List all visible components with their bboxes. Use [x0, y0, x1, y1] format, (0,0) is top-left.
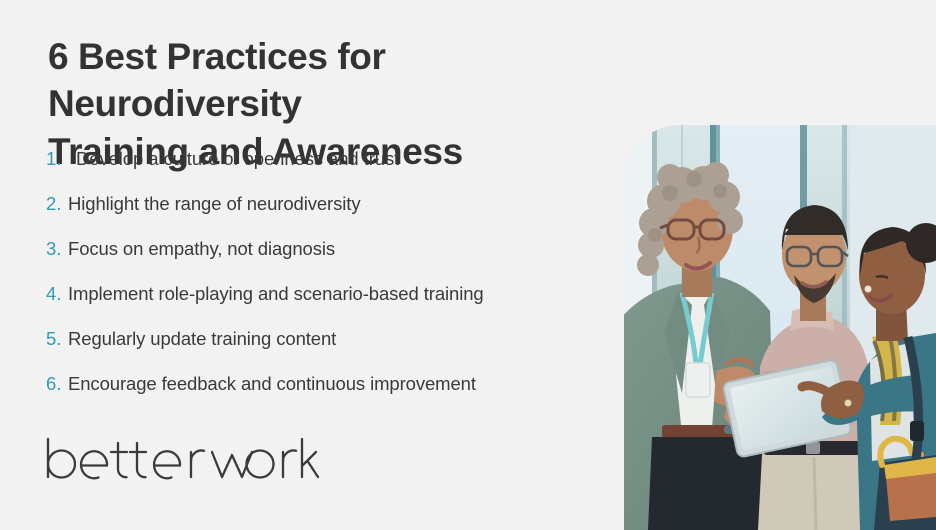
list-item: 6. Encourage feedback and continuous imp… — [46, 373, 606, 418]
list-item-label: Focus on empathy, not diagnosis — [68, 238, 606, 260]
betterworks-logo — [44, 434, 324, 492]
team-photo — [624, 125, 936, 530]
list-item-label: Highlight the range of neurodiversity — [68, 193, 606, 215]
list-item-label: Implement role-playing and scenario-base… — [68, 283, 606, 305]
betterworks-wordmark-icon — [44, 437, 324, 489]
list-item-number: 4. — [46, 283, 68, 305]
list-item-label: Regularly update training content — [68, 328, 606, 350]
list-item: 2. Highlight the range of neurodiversity — [46, 193, 606, 238]
list-item-label: Encourage feedback and continuous improv… — [68, 373, 606, 395]
list-item-number: 1. — [46, 148, 76, 170]
list-item-number: 2. — [46, 193, 68, 215]
graphic-card: 6 Best Practices for Neurodiversity Trai… — [0, 0, 936, 530]
list-item: 3. Focus on empathy, not diagnosis — [46, 238, 606, 283]
list-item: 1. Develop a culture of openness and tru… — [46, 148, 606, 193]
best-practices-list: 1. Develop a culture of openness and tru… — [46, 148, 606, 418]
list-item-number: 3. — [46, 238, 68, 260]
list-item: 4. Implement role-playing and scenario-b… — [46, 283, 606, 328]
list-item: 5. Regularly update training content — [46, 328, 606, 373]
list-item-number: 6. — [46, 373, 68, 395]
list-item-label: Develop a culture of openness and trust — [76, 148, 606, 170]
list-item-number: 5. — [46, 328, 68, 350]
team-photo-illustration — [624, 125, 936, 530]
